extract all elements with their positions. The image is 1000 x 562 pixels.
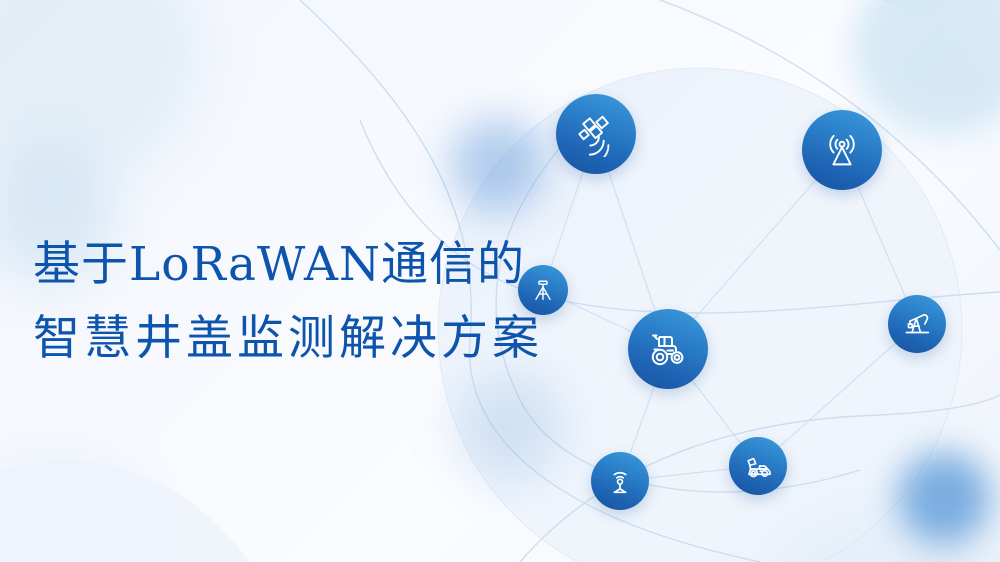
tripod-icon	[529, 276, 557, 304]
icon-node-harvester[interactable]	[729, 437, 787, 495]
icon-node-radio-tower[interactable]	[802, 110, 882, 190]
blurred-accent-dot	[760, 505, 1000, 562]
icon-node-satellite[interactable]	[556, 94, 636, 174]
title-line-2: 智慧井盖监测解决方案	[33, 302, 543, 376]
oil-pump-icon	[900, 307, 934, 341]
icon-node-tractor[interactable]	[628, 309, 708, 389]
orbital-arc	[600, 0, 1000, 250]
connection-line	[758, 324, 917, 466]
satellite-icon	[573, 111, 619, 157]
icon-node-oil-pump[interactable]	[888, 295, 946, 353]
blurred-accent-dot	[852, 0, 1000, 135]
slide-title: 基于LoRaWAN通信的 智慧井盖监测解决方案	[33, 228, 543, 376]
blurred-accent-dot	[455, 372, 565, 482]
icon-node-tripod[interactable]	[518, 265, 568, 315]
corner-accent-shape	[880, 0, 1000, 150]
presentation-slide: 基于LoRaWAN通信的 智慧井盖监测解决方案	[0, 0, 1000, 562]
title-line-1: 基于LoRaWAN通信的	[33, 228, 543, 302]
icon-node-sensor[interactable]	[591, 452, 649, 510]
sensor-beacon-icon	[603, 464, 637, 498]
tractor-icon	[644, 325, 692, 373]
blurred-accent-dot	[0, 455, 160, 562]
blurred-accent-dot	[0, 0, 200, 190]
radio-tower-icon	[819, 127, 865, 173]
corner-accent-shape	[0, 461, 250, 562]
harvester-icon	[740, 448, 776, 484]
blurred-accent-dot	[898, 452, 990, 544]
blurred-accent-dot	[450, 118, 545, 213]
